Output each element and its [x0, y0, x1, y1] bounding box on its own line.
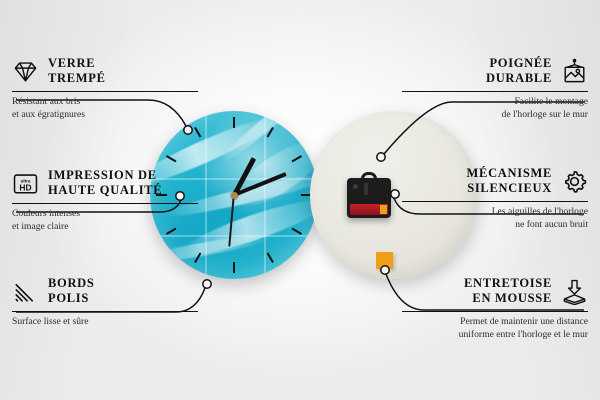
- clock-center-pin: [231, 192, 238, 199]
- feature-header: POIGNÉE DURABLE: [402, 56, 588, 87]
- divider: [12, 91, 198, 93]
- feature-description: Couleurs intenses et image claire: [12, 208, 198, 234]
- feature-title: POIGNÉE DURABLE: [486, 56, 552, 87]
- picture-hanger-icon: [561, 58, 588, 85]
- polished-edges-icon: [12, 278, 39, 305]
- feature-callout-entretoise: ENTRETOISE EN MOUSSE Permet de maintenir…: [402, 276, 588, 342]
- clock-mechanism: [347, 178, 391, 218]
- feature-header: BORDS POLIS: [12, 276, 198, 307]
- divider: [12, 311, 198, 313]
- feature-title: VERRE TREMPÉ: [48, 56, 106, 87]
- feature-callout-impression: ultra HD IMPRESSION DE HAUTE QUALITÉ Cou…: [12, 168, 198, 234]
- mechanism-detail: [353, 184, 358, 189]
- feature-callout-poignee: POIGNÉE DURABLE Facilite le montage de l…: [402, 56, 588, 122]
- second-hand: [229, 195, 235, 247]
- mechanism-detail: [364, 183, 368, 195]
- feature-header: ENTRETOISE EN MOUSSE: [402, 276, 588, 307]
- diamond-icon: [12, 58, 39, 85]
- feature-description: Facilite le montage de l'horloge sur le …: [402, 96, 588, 122]
- feature-header: ultra HD IMPRESSION DE HAUTE QUALITÉ: [12, 168, 198, 199]
- mechanism-body: [347, 178, 391, 218]
- feature-title: MÉCANISME SILENCIEUX: [467, 166, 552, 197]
- feature-callout-bords-polis: BORDS POLIS Surface lisse et sûre: [12, 276, 198, 329]
- feature-header: MÉCANISME SILENCIEUX: [402, 166, 588, 197]
- gear-icon: [561, 168, 588, 195]
- divider: [12, 203, 198, 205]
- divider: [402, 91, 588, 93]
- svg-text:HD: HD: [19, 182, 31, 192]
- feature-callout-verre-trempe: VERRE TREMPÉ Résistant aux bris et aux é…: [12, 56, 198, 122]
- feature-header: VERRE TREMPÉ: [12, 56, 198, 87]
- feature-callout-mecanisme: MÉCANISME SILENCIEUX Les aiguilles de l'…: [402, 166, 588, 232]
- foam-spacer-icon: [561, 278, 588, 305]
- feature-description: Les aiguilles de l'horloge ne font aucun…: [402, 206, 588, 232]
- foam-spacer: [376, 252, 393, 269]
- feature-description: Permet de maintenir une distance uniform…: [402, 316, 588, 342]
- battery: [350, 204, 388, 215]
- connector-endpoint-bords-polis: [203, 280, 211, 288]
- feature-title: BORDS POLIS: [48, 276, 95, 307]
- divider: [402, 311, 588, 313]
- infographic-canvas: VERRE TREMPÉ Résistant aux bris et aux é…: [0, 0, 600, 400]
- feature-title: IMPRESSION DE HAUTE QUALITÉ: [48, 168, 162, 199]
- feature-description: Surface lisse et sûre: [12, 316, 198, 329]
- feature-title: ENTRETOISE EN MOUSSE: [464, 276, 552, 307]
- ultra-hd-icon: ultra HD: [12, 170, 39, 197]
- divider: [402, 201, 588, 203]
- feature-description: Résistant aux bris et aux égratignures: [12, 96, 198, 122]
